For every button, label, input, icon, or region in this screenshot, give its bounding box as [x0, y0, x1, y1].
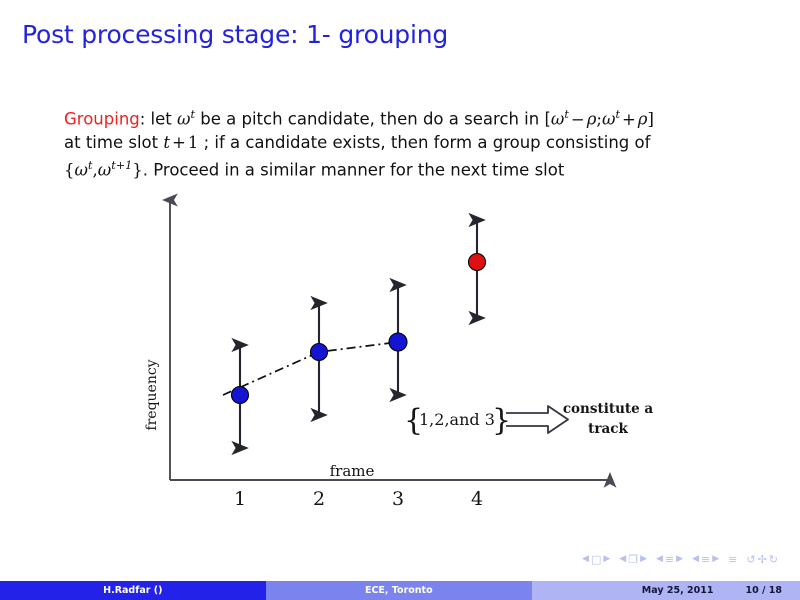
brace-close: } [132, 160, 143, 179]
candidate-dot-frame-2[interactable] [311, 344, 328, 361]
nav-next-subsection-icon[interactable]: ▶ [676, 555, 683, 564]
bracket-close: ] [648, 110, 654, 129]
nav-slide-icon[interactable]: □ [591, 554, 601, 565]
time-slot-variable: t [163, 133, 170, 152]
nav-frame-icon[interactable]: ❐ [628, 554, 638, 565]
nav-prev-slide-icon[interactable]: ◀ [582, 555, 589, 564]
nav-slide-group[interactable]: ◀ □ ▶ [582, 554, 610, 565]
body-line2-part-b: ; if a candidate exists, then form a gro… [204, 133, 651, 152]
x-tick-label-2: 2 [313, 488, 325, 510]
body-line-3: {ωt,ωt+1}. Proceed in a similar manner f… [64, 154, 704, 182]
arrow-note-line-1: constitute a [563, 401, 654, 417]
x-tick-label-1: 1 [234, 488, 246, 510]
body-line2-part-a: at time slot [64, 133, 158, 152]
footer-author: H.Radfar () [0, 581, 266, 600]
omega-member-1: ω [75, 160, 88, 179]
nav-subsection-group[interactable]: ◀ ≡ ▶ [656, 554, 683, 565]
body-line1-part-a: : let [140, 110, 172, 129]
grouping-keyword: Grouping [64, 110, 140, 129]
set-note-label: 1,2,and 3 [419, 410, 495, 429]
nav-history-group[interactable]: ↺ ✢ ↻ [746, 554, 778, 565]
body-text: Grouping: let ωt be a pitch candidate, t… [64, 103, 704, 181]
nav-prev-subsection-icon[interactable]: ◀ [656, 555, 663, 564]
nav-forward-icon[interactable]: ↻ [769, 554, 778, 565]
minus-operator: − [569, 110, 587, 129]
set-brace-close: } [492, 403, 511, 438]
candidate-dot-frame-3[interactable] [389, 333, 407, 351]
x-tick-label-4: 4 [471, 488, 483, 510]
nav-next-section-icon[interactable]: ▶ [712, 555, 719, 564]
nav-next-frame-icon[interactable]: ▶ [640, 555, 647, 564]
grouping-diagram: frequency frame 1 2 3 4 { 1,2,and 3 } co… [140, 190, 660, 515]
y-axis-label: frequency [144, 359, 160, 430]
x-tick-label-3: 3 [392, 488, 404, 510]
footer-meta: May 25, 2011 10 / 18 [532, 581, 800, 600]
omega-symbol: ω [177, 110, 190, 129]
omega-member-2: ω [98, 160, 111, 179]
omega-symbol-upper: ω [602, 110, 615, 129]
time-slot-offset: 1 [188, 133, 199, 152]
plus-operator-2: + [170, 133, 188, 152]
nav-frame-group[interactable]: ◀ ❐ ▶ [619, 554, 647, 565]
rho-symbol-2: ρ [638, 110, 648, 129]
body-line3-part-b: . Proceed in a similar manner for the ne… [143, 160, 565, 179]
page-title: Post processing stage: 1- grouping [22, 20, 448, 49]
superscript-t: t [190, 108, 195, 121]
implies-arrow-icon [506, 406, 568, 433]
nav-subsection-icon[interactable]: ≡ [665, 554, 674, 565]
nav-prev-frame-icon[interactable]: ◀ [619, 555, 626, 564]
body-line-2: at time slot t+1 ; if a candidate exists… [64, 131, 704, 154]
footer-institution: ECE, Toronto [266, 581, 532, 600]
superscript-t-plus-1: t+1 [111, 159, 132, 172]
candidate-dot-frame-1[interactable] [232, 387, 249, 404]
arrow-note-line-2: track [588, 421, 628, 437]
nav-section-icon[interactable]: ≡ [701, 554, 710, 565]
nav-prev-section-icon[interactable]: ◀ [692, 555, 699, 564]
nav-toc-icon[interactable]: ≡ [728, 554, 737, 565]
x-axis-label: frame [330, 462, 375, 480]
nav-search-icon[interactable]: ✢ [758, 554, 767, 565]
footer-date: May 25, 2011 [642, 585, 714, 596]
slide-footer: H.Radfar () ECE, Toronto May 25, 2011 10… [0, 581, 800, 600]
nav-section-group[interactable]: ◀ ≡ ▶ [692, 554, 719, 565]
rho-symbol: ρ [587, 110, 597, 129]
nav-next-slide-icon[interactable]: ▶ [603, 555, 610, 564]
beamer-navigation-bar[interactable]: ◀ □ ▶ ◀ ❐ ▶ ◀ ≡ ▶ ◀ ≡ ▶ ≡ ↺ ✢ ↻ [0, 549, 800, 569]
diagram-svg: frequency frame 1 2 3 4 { 1,2,and 3 } co… [140, 190, 660, 515]
brace-open: { [64, 160, 75, 179]
candidate-dot-frame-4[interactable] [469, 254, 486, 271]
plus-operator: + [620, 110, 638, 129]
omega-symbol-lower: ω [551, 110, 564, 129]
footer-page-number: 10 / 18 [745, 585, 782, 596]
body-line-1: Grouping: let ωt be a pitch candidate, t… [64, 103, 704, 131]
nav-back-icon[interactable]: ↺ [746, 554, 755, 565]
body-line1-part-b: be a pitch candidate, then do a search i… [200, 110, 551, 129]
